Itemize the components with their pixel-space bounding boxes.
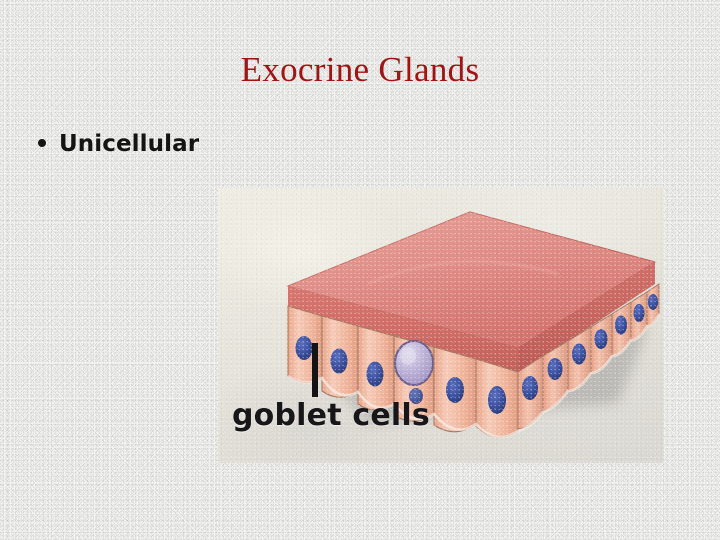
- bullet-list: Unicellular: [38, 131, 199, 157]
- nucleus: [615, 316, 627, 335]
- nucleus: [296, 336, 313, 360]
- goblet-cells-figure: goblet cells: [218, 188, 664, 463]
- list-item: Unicellular: [38, 131, 199, 157]
- nucleus: [522, 376, 538, 400]
- nucleus: [595, 329, 608, 349]
- figure-caption: goblet cells: [232, 398, 430, 433]
- bullet-dot-icon: [38, 139, 46, 147]
- nucleus: [548, 358, 563, 380]
- nucleus: [446, 377, 464, 403]
- nucleus: [488, 386, 506, 414]
- goblet-mucin-vesicle: [395, 341, 433, 385]
- nucleus: [572, 344, 586, 365]
- bullet-item-label: Unicellular: [59, 131, 199, 157]
- page-title: Exocrine Glands: [0, 48, 720, 92]
- slide-canvas: Exocrine Glands Unicellular: [0, 0, 720, 540]
- nucleus: [331, 349, 348, 374]
- caption-leader-line: [312, 343, 318, 397]
- nucleus: [648, 294, 658, 310]
- nucleus: [367, 362, 384, 387]
- nucleus: [634, 304, 645, 322]
